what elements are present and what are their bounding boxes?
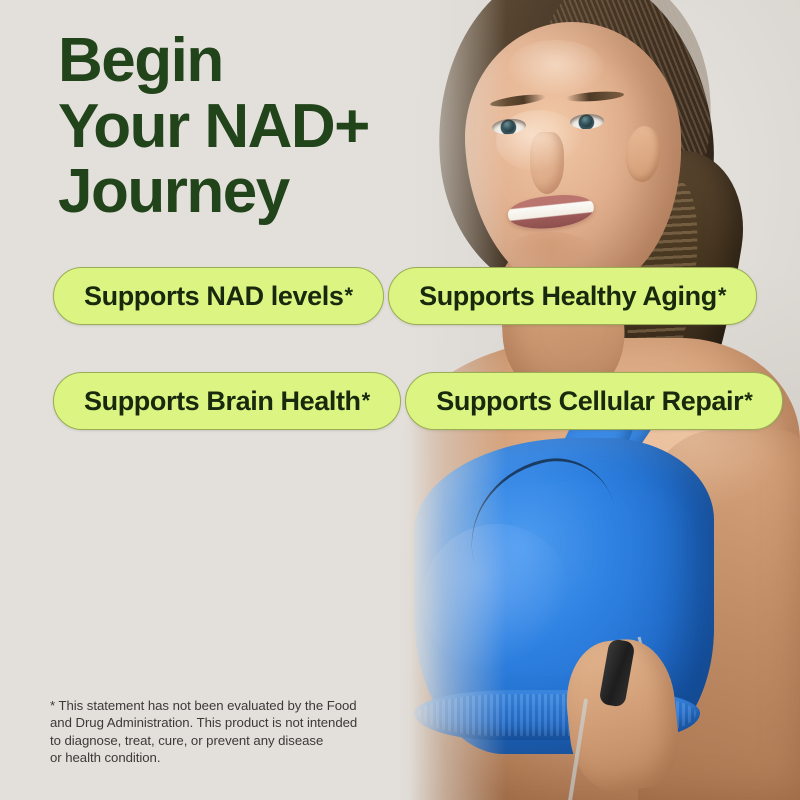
benefit-pill-label: Supports Brain Health xyxy=(84,386,361,417)
headline-line-2: Your NAD+ xyxy=(58,94,488,160)
footnote-marker-icon: * xyxy=(362,390,370,412)
disclaimer-line-3: to diagnose, treat, cure, or prevent any… xyxy=(50,732,410,749)
fda-disclaimer: * This statement has not been evaluated … xyxy=(50,697,410,767)
footnote-marker-icon: * xyxy=(718,285,726,307)
benefit-pill-label: Supports Healthy Aging xyxy=(419,281,717,312)
benefit-pill-nad-levels[interactable]: Supports NAD levels* xyxy=(53,267,384,325)
benefit-pill-list: Supports NAD levels* Supports Healthy Ag… xyxy=(53,267,800,477)
footnote-marker-icon: * xyxy=(744,390,752,412)
footnote-marker-icon: * xyxy=(344,285,352,307)
disclaimer-line-1: * This statement has not been evaluated … xyxy=(50,697,410,714)
benefit-pill-label: Supports NAD levels xyxy=(84,281,343,312)
benefit-pill-healthy-aging[interactable]: Supports Healthy Aging* xyxy=(388,267,757,325)
headline-line-1: Begin xyxy=(58,28,488,94)
headline-line-3: Journey xyxy=(58,159,488,225)
marketing-banner: Begin Your NAD+ Journey Supports NAD lev… xyxy=(0,0,800,800)
disclaimer-line-4: or health condition. xyxy=(50,749,410,766)
benefit-pill-label: Supports Cellular Repair xyxy=(436,386,743,417)
page-title: Begin Your NAD+ Journey xyxy=(58,28,488,225)
benefit-pill-cellular-repair[interactable]: Supports Cellular Repair* xyxy=(405,372,783,430)
disclaimer-line-2: and Drug Administration. This product is… xyxy=(50,714,410,731)
content-layer: Begin Your NAD+ Journey Supports NAD lev… xyxy=(0,0,800,800)
benefit-pill-brain-health[interactable]: Supports Brain Health* xyxy=(53,372,401,430)
